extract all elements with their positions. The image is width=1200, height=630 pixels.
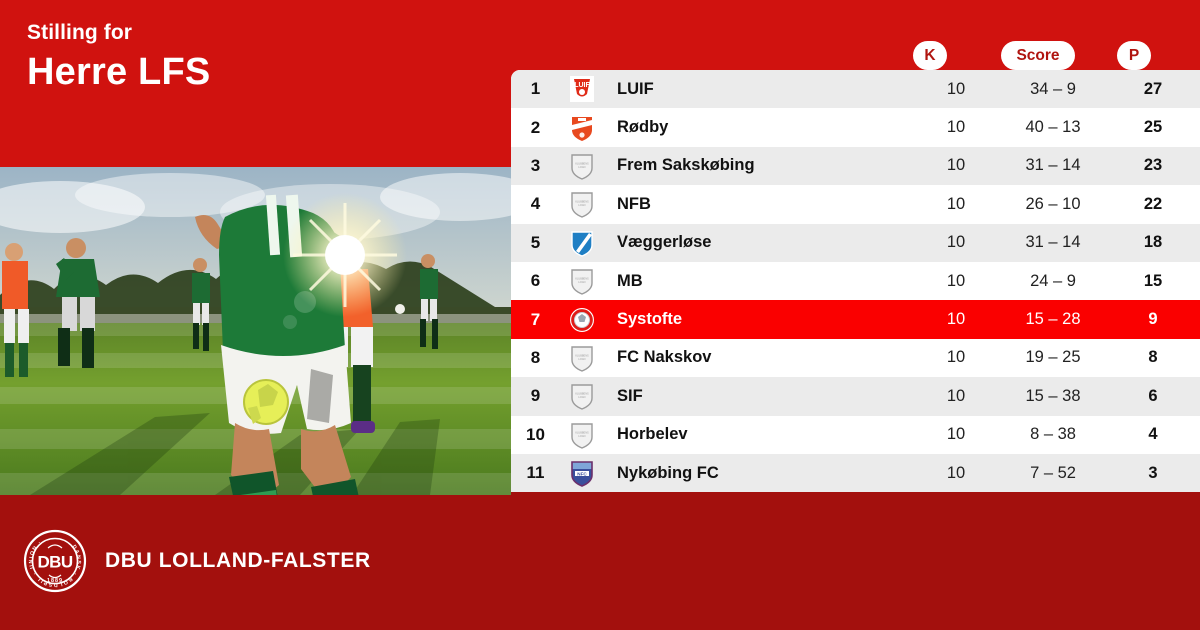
football-photo (0, 167, 511, 495)
default-crest: KLUBBENSLOGO (560, 344, 604, 372)
svg-text:LOGO: LOGO (578, 204, 585, 207)
table-row[interactable]: 9KLUBBENSLOGOSIF1015 – 386 (511, 377, 1200, 415)
row-points: 25 (1106, 118, 1200, 137)
row-team-name: MB (604, 272, 912, 291)
row-goal-score: 40 – 13 (1000, 118, 1106, 137)
page-title: Stilling for Herre LFS (27, 20, 210, 96)
row-goal-score: 19 – 25 (1000, 348, 1106, 367)
systofte-crest (560, 306, 604, 334)
svg-text:· 1889 ·: · 1889 · (42, 578, 69, 584)
row-matches-played: 10 (912, 80, 1000, 99)
table-row[interactable]: 7Systofte1015 – 289 (511, 300, 1200, 338)
row-points: 15 (1106, 272, 1200, 291)
svg-text:NFC: NFC (577, 471, 587, 476)
row-team-name: FC Nakskov (604, 348, 912, 367)
row-points: 9 (1106, 310, 1200, 329)
table-row[interactable]: 3KLUBBENSLOGOFrem Sakskøbing1031 – 1423 (511, 147, 1200, 185)
row-goal-score: 26 – 10 (1000, 195, 1106, 214)
row-points: 4 (1106, 425, 1200, 444)
row-matches-played: 10 (912, 464, 1000, 483)
table-row[interactable]: 5Væggerløse1031 – 1418 (511, 224, 1200, 262)
row-points: 22 (1106, 195, 1200, 214)
row-position: 2 (511, 118, 560, 138)
column-header-k: K (913, 41, 947, 70)
table-row[interactable]: 2Rødby1040 – 1325 (511, 108, 1200, 146)
row-position: 8 (511, 348, 560, 368)
default-crest: KLUBBENSLOGO (560, 421, 604, 449)
svg-text:LOGO: LOGO (578, 396, 585, 399)
row-matches-played: 10 (912, 387, 1000, 406)
svg-text:DBU: DBU (37, 553, 72, 572)
row-position: 6 (511, 271, 560, 291)
default-crest: KLUBBENSLOGO (560, 190, 604, 218)
row-team-name: Nykøbing FC (604, 464, 912, 483)
standings-graphic: Stilling for Herre LFS (0, 0, 1200, 630)
table-row[interactable]: 10KLUBBENSLOGOHorbelev108 – 384 (511, 416, 1200, 454)
svg-text:LOGO: LOGO (578, 358, 585, 361)
row-goal-score: 15 – 38 (1000, 387, 1106, 406)
nykobing-crest: NFC (560, 459, 604, 487)
row-matches-played: 10 (912, 272, 1000, 291)
column-header-p: P (1117, 41, 1151, 70)
row-goal-score: 34 – 9 (1000, 80, 1106, 99)
svg-text:LOGO: LOGO (578, 435, 585, 438)
row-matches-played: 10 (912, 156, 1000, 175)
standings-table: 1LUIFLUIF1034 – 9272Rødby1040 – 13253KLU… (511, 70, 1200, 492)
row-goal-score: 7 – 52 (1000, 464, 1106, 483)
row-goal-score: 31 – 14 (1000, 156, 1106, 175)
row-team-name: LUIF (604, 80, 912, 99)
row-goal-score: 24 – 9 (1000, 272, 1106, 291)
row-team-name: Rødby (604, 118, 912, 137)
row-team-name: Frem Sakskøbing (604, 156, 912, 175)
row-position: 5 (511, 233, 560, 253)
table-row[interactable]: 1LUIFLUIF1034 – 927 (511, 70, 1200, 108)
row-goal-score: 31 – 14 (1000, 233, 1106, 252)
row-matches-played: 10 (912, 348, 1000, 367)
row-team-name: NFB (604, 195, 912, 214)
row-points: 18 (1106, 233, 1200, 252)
row-team-name: SIF (604, 387, 912, 406)
row-points: 23 (1106, 156, 1200, 175)
title-main: Herre LFS (27, 48, 210, 96)
table-row[interactable]: 8KLUBBENSLOGOFC Nakskov1019 – 258 (511, 339, 1200, 377)
row-points: 27 (1106, 80, 1200, 99)
row-position: 10 (511, 425, 560, 445)
football-photo-illustration (0, 167, 511, 495)
rodby-crest (560, 114, 604, 142)
svg-text:LOGO: LOGO (578, 166, 585, 169)
dbu-logo: DANSK · BOLDSPIL · UNION · DBU · 1889 · (23, 529, 87, 593)
row-goal-score: 8 – 38 (1000, 425, 1106, 444)
row-matches-played: 10 (912, 425, 1000, 444)
title-eyebrow: Stilling for (27, 20, 210, 46)
footer-org-name: DBU LOLLAND-FALSTER (105, 549, 371, 573)
row-points: 8 (1106, 348, 1200, 367)
footer: DANSK · BOLDSPIL · UNION · DBU · 1889 · … (0, 492, 1200, 630)
row-team-name: Systofte (604, 310, 912, 329)
row-position: 7 (511, 310, 560, 330)
table-row[interactable]: 4KLUBBENSLOGONFB1026 – 1022 (511, 185, 1200, 223)
default-crest: KLUBBENSLOGO (560, 267, 604, 295)
column-header-score: Score (1001, 41, 1075, 70)
row-points: 6 (1106, 387, 1200, 406)
row-matches-played: 10 (912, 118, 1000, 137)
luif-crest: LUIF (560, 75, 604, 103)
row-matches-played: 10 (912, 310, 1000, 329)
svg-text:LUIF: LUIF (574, 82, 590, 89)
vaeggerlose-crest (560, 229, 604, 257)
row-matches-played: 10 (912, 195, 1000, 214)
row-position: 3 (511, 156, 560, 176)
svg-text:LOGO: LOGO (578, 281, 585, 284)
row-team-name: Horbelev (604, 425, 912, 444)
row-team-name: Væggerløse (604, 233, 912, 252)
table-row[interactable]: 6KLUBBENSLOGOMB1024 – 915 (511, 262, 1200, 300)
default-crest: KLUBBENSLOGO (560, 382, 604, 410)
row-position: 11 (511, 463, 560, 483)
table-row[interactable]: 11NFCNykøbing FC107 – 523 (511, 454, 1200, 492)
row-position: 1 (511, 79, 560, 99)
row-position: 9 (511, 386, 560, 406)
row-points: 3 (1106, 464, 1200, 483)
default-crest: KLUBBENSLOGO (560, 152, 604, 180)
row-position: 4 (511, 194, 560, 214)
row-goal-score: 15 – 28 (1000, 310, 1106, 329)
row-matches-played: 10 (912, 233, 1000, 252)
